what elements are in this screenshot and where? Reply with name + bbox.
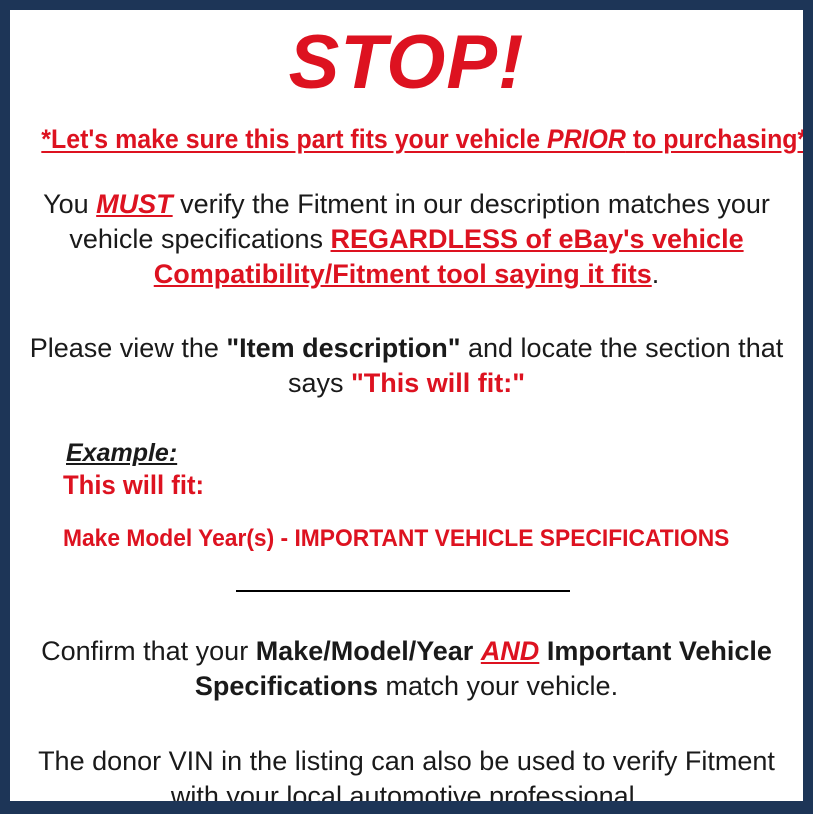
example-fit-heading: This will fit: <box>63 469 758 501</box>
subheadline-suffix: to purchasing* <box>626 124 807 154</box>
emphasis-must: MUST <box>96 189 173 219</box>
paragraph-donor-vin: The donor VIN in the listing can also be… <box>18 704 795 814</box>
subheadline-underlined-run: *Let's make sure this part fits your veh… <box>41 124 807 154</box>
subheadline-emphasis-prior: PRIOR <box>547 124 626 154</box>
paragraph-item-description: Please view the "Item description" and l… <box>18 292 795 401</box>
fitment-notice-card: STOP! *Let's make sure this part fits yo… <box>0 0 813 814</box>
example-spec-line: Make Model Year(s) - IMPORTANT VEHICLE S… <box>63 501 758 554</box>
paragraph-confirm: Confirm that your Make/Model/Year AND Im… <box>18 600 795 704</box>
must-seg-5: . <box>652 259 660 289</box>
example-label: Example: <box>66 439 177 469</box>
emphasis-and: AND <box>481 636 540 666</box>
confirm-seg-3 <box>473 636 481 666</box>
must-seg-1: You <box>43 189 96 219</box>
subheadline: *Let's make sure this part fits your veh… <box>41 102 771 154</box>
divider-wrap <box>18 554 795 600</box>
emphasis-this-will-fit-quote: "This will fit:" <box>351 368 525 398</box>
stop-headline: STOP! <box>18 10 795 102</box>
notice-inner-content: STOP! *Let's make sure this part fits yo… <box>10 10 803 801</box>
confirm-seg-5 <box>539 636 547 666</box>
emphasis-make-model-year: Make/Model/Year <box>256 636 474 666</box>
subheadline-prefix: *Let's make sure this part fits your veh… <box>41 124 547 154</box>
horizontal-divider <box>236 590 570 592</box>
paragraph-must-verify: You MUST verify the Fitment in our descr… <box>18 154 795 292</box>
confirm-seg-7: match your vehicle. <box>378 671 618 701</box>
desc-seg-1: Please view the <box>30 333 227 363</box>
example-label-row: Example: <box>66 439 795 469</box>
confirm-seg-1: Confirm that your <box>41 636 256 666</box>
example-block: Example: This will fit: Make Model Year(… <box>18 401 795 554</box>
emphasis-item-description: "Item description" <box>226 333 460 363</box>
